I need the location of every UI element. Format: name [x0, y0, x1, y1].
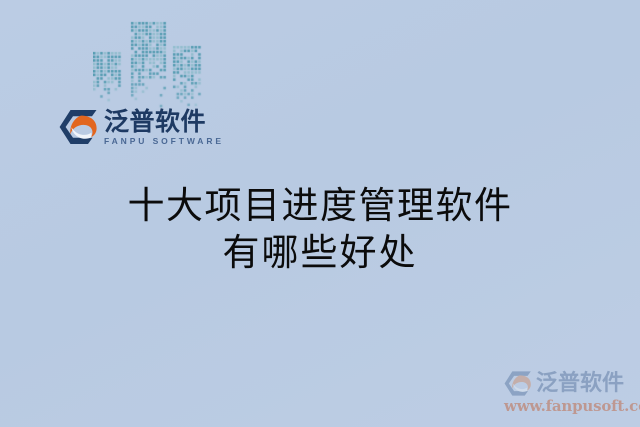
pixel-city-skyline-graphic	[93, 20, 205, 108]
brand-name-cn: 泛普软件	[104, 108, 224, 135]
watermark-logo-row: 泛普软件	[503, 368, 636, 399]
fanpu-hexagon-leaf-logo-mark-watermark	[503, 370, 533, 397]
fanpu-hexagon-leaf-logo-mark	[58, 108, 99, 146]
page-title-line-1: 十大项目进度管理软件	[0, 182, 640, 229]
brand-wordmark: 泛普软件 FANPU SOFTWARE	[104, 107, 224, 147]
watermark-brand-name: 泛普软件	[536, 372, 624, 396]
page-title: 十大项目进度管理软件 有哪些好处	[0, 182, 640, 276]
page-title-line-2: 有哪些好处	[0, 229, 640, 276]
poster-canvas: 泛普软件 FANPU SOFTWARE 十大项目进度管理软件 有哪些好处 泛普软…	[0, 0, 640, 427]
watermark-url: www.fanpusoft.com	[504, 398, 636, 415]
watermark: 泛普软件 www.fanpusoft.com	[503, 368, 636, 418]
brand-logo: 泛普软件 FANPU SOFTWARE	[58, 103, 224, 150]
brand-name-en: FANPU SOFTWARE	[104, 136, 224, 147]
